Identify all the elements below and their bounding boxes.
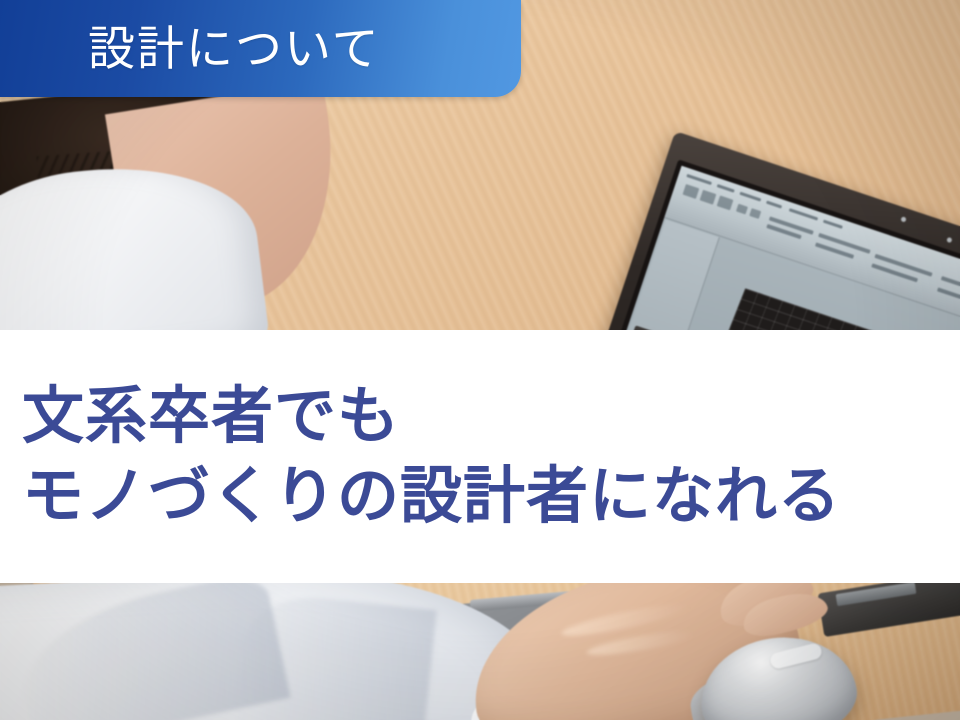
headline-line-2: モノづくりの設計者になれる [22,457,960,536]
headline-line-1: 文系卒者でも [22,377,960,456]
header-banner-title: 設計について [88,25,381,72]
slide-root: 設計について 文系卒者でも モノづくりの設計者になれる [0,0,960,720]
header-banner: 設計について [0,0,521,97]
headline-panel: 文系卒者でも モノづくりの設計者になれる [0,330,960,583]
